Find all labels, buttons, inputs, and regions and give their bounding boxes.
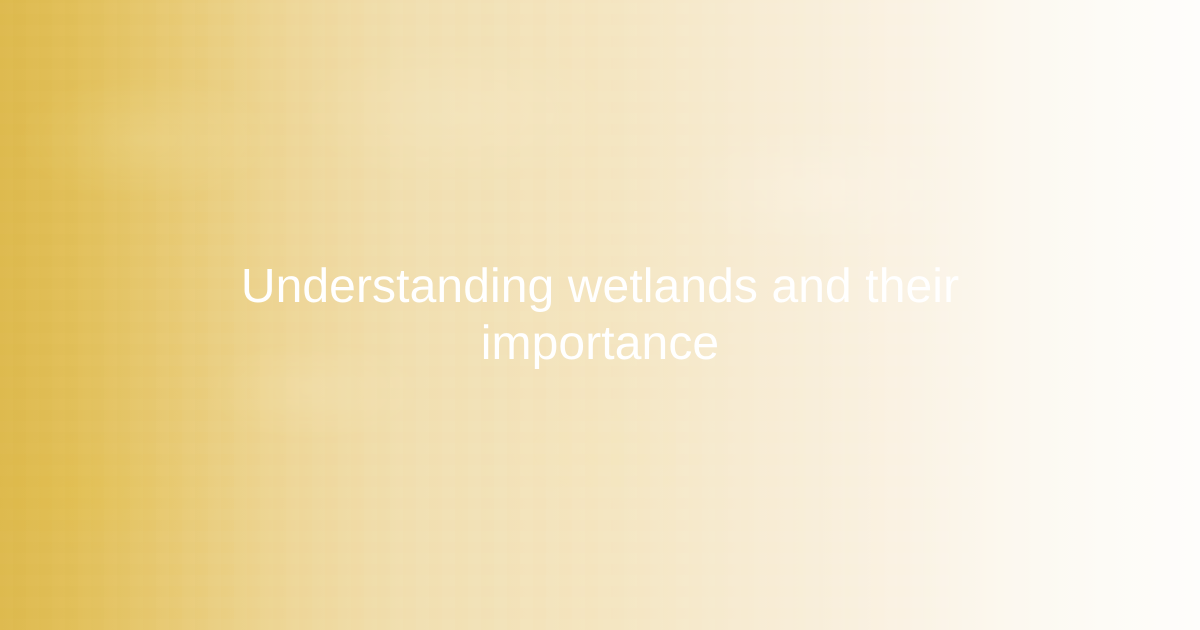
banner-title-block: Understanding wetlands and their importa… (220, 258, 980, 372)
hero-banner: Understanding wetlands and their importa… (0, 0, 1200, 630)
banner-title-line-1: Understanding wetlands and (241, 260, 852, 313)
banner-title: Understanding wetlands and their importa… (240, 258, 960, 372)
